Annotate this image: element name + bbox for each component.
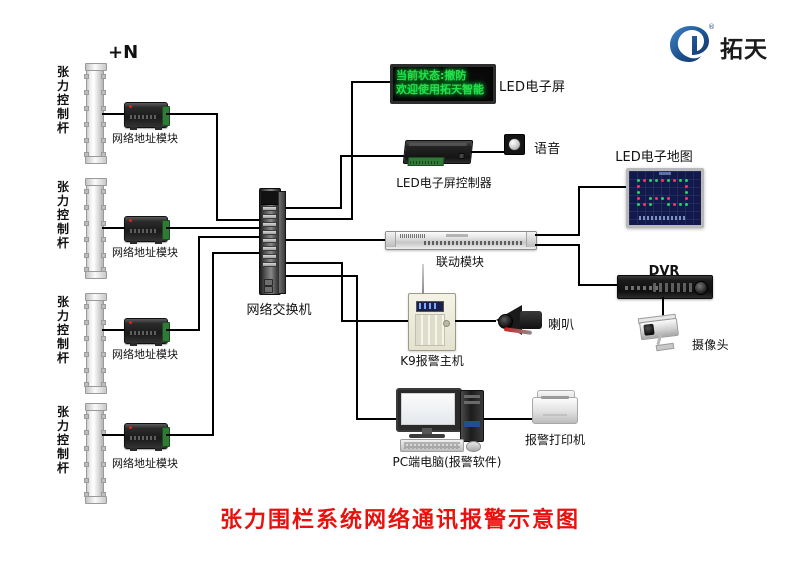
linkage-module <box>385 231 537 250</box>
linkage-out-down-h <box>535 244 580 246</box>
diagram-title: 张力围栏系统网络通讯报警示意图 <box>220 502 580 534</box>
led-electronic-map <box>626 168 704 228</box>
led-map-label: LED电子地图 <box>615 146 692 165</box>
bus1-to-switch <box>216 219 259 221</box>
network-address-module-3 <box>124 318 168 344</box>
k9-keypad[interactable] <box>415 314 445 346</box>
network-address-module-label-1: 网络地址模块 <box>112 130 178 146</box>
led-screen-controller <box>403 140 474 164</box>
horn-label: 喇叭 <box>548 314 575 333</box>
registered-mark: ® <box>708 23 715 31</box>
bus-vertical-4 <box>212 252 214 436</box>
dvr-feed-h <box>578 284 617 286</box>
alarm-printer <box>532 390 578 423</box>
link-pole1-module <box>102 113 125 115</box>
mouse[interactable] <box>466 441 481 452</box>
monitor-screen <box>401 393 455 425</box>
dvr-recorder <box>617 275 713 299</box>
bus3-to-switch <box>198 236 259 238</box>
ledctl-feed-h <box>340 155 404 157</box>
link-module1-bus <box>166 113 218 115</box>
linkage-module-label: 联动模块 <box>436 253 484 270</box>
network-address-module-label-3: 网络地址模块 <box>112 346 178 362</box>
switch-out-linkage <box>286 239 385 241</box>
network-address-module-2 <box>124 216 168 242</box>
link-module2-switch <box>166 227 259 229</box>
led-screen-label: LED电子屏 <box>499 76 565 95</box>
link-pc-printer <box>484 418 532 420</box>
switch-out-ledctl-h <box>286 207 342 209</box>
led-display-screen: 当前状态:撤防 欢迎使用拓天智能 <box>390 64 496 104</box>
linkage-out-up-h <box>535 234 580 236</box>
bus-vertical-3 <box>198 236 200 331</box>
monitor <box>396 388 462 432</box>
link-pole2-module <box>102 227 125 229</box>
keyboard[interactable] <box>400 439 464 452</box>
ledmap-feed-h <box>578 186 628 188</box>
tension-pole-3 <box>86 295 104 392</box>
linkage-out-down-v <box>578 244 580 286</box>
switch-out-k9-v <box>341 262 343 321</box>
k9-alarm-host-label: K9报警主机 <box>400 352 464 369</box>
led-screen-line-2: 欢迎使用拓天智能 <box>396 83 490 96</box>
pole-label-3: 张力控制杆 <box>56 295 70 365</box>
bus4-to-switch <box>212 252 259 254</box>
k9-feed-h <box>341 320 408 322</box>
link-ledctl-voice <box>471 151 504 153</box>
linkage-out-up-v <box>578 186 580 236</box>
link-module3-bus <box>166 329 200 331</box>
printer-label: 报警打印机 <box>525 431 585 448</box>
voice-label: 语音 <box>534 138 561 157</box>
plus-n-label: +N <box>108 42 138 63</box>
led-controller-label: LED电子屏控制器 <box>396 174 492 191</box>
camera-label: 摄像头 <box>692 336 729 353</box>
brand-logo: ® 拓天 <box>668 24 788 68</box>
switch-out-pc-v <box>356 275 358 420</box>
switch-ports <box>262 206 277 276</box>
ledscreen-feed-h <box>351 81 390 83</box>
switch-out-k9-h <box>286 262 343 264</box>
voice-speaker-icon <box>508 138 521 151</box>
network-address-module-4 <box>124 423 168 449</box>
surveillance-camera <box>636 318 688 352</box>
network-switch-label: 网络交换机 <box>246 299 311 318</box>
pole-label-1: 张力控制杆 <box>56 65 70 135</box>
pc-feed-h <box>356 418 396 420</box>
network-switch <box>259 188 281 295</box>
network-address-module-label-4: 网络地址模块 <box>112 455 178 471</box>
bus-vertical-1 <box>216 113 218 220</box>
link-pole4-module <box>102 434 125 436</box>
link-module4-bus <box>166 434 214 436</box>
pole-label-2: 张力控制杆 <box>56 180 70 250</box>
pole-label-4: 张力控制杆 <box>56 405 70 475</box>
horn-speaker <box>496 305 546 335</box>
switch-out-ledscreen-h <box>286 218 353 220</box>
network-address-module-1 <box>124 102 168 128</box>
pc-tower <box>460 390 484 442</box>
network-address-module-label-2: 网络地址模块 <box>112 244 178 260</box>
switch-out-pc-h <box>286 275 358 277</box>
k9-alarm-host <box>408 293 456 351</box>
pc-label: PC端电脑(报警软件) <box>393 453 502 470</box>
k9-display <box>416 301 444 312</box>
diagram-canvas: ® 拓天 +N 张力控制杆 网络地址模块 张力控制杆 网络地址模块 <box>0 0 800 579</box>
tension-pole-4 <box>86 405 104 502</box>
link-pole3-module <box>102 329 125 331</box>
brand-name: 拓天 <box>720 30 768 64</box>
antenna-icon <box>422 264 424 294</box>
switch-out-ledscreen-v <box>351 81 353 220</box>
switch-out-ledctl-v <box>340 155 342 209</box>
link-k9-horn <box>455 320 496 322</box>
led-screen-line-1: 当前状态:撤防 <box>396 69 490 82</box>
k9-knob[interactable] <box>443 320 450 327</box>
voice-module <box>504 134 525 155</box>
